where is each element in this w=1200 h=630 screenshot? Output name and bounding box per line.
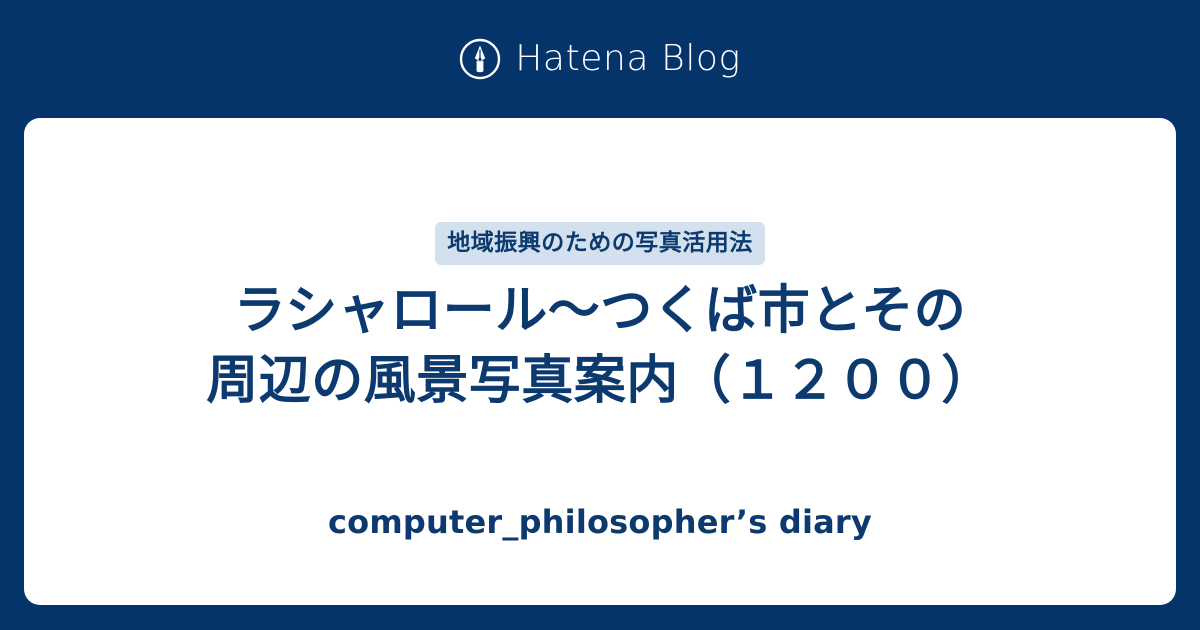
entry-title: ラシャロール〜つくば市とその 周辺の風景写真案内（１２００） [84,276,1116,416]
entry-title-line-2: 周辺の風景写真案内（１２００） [84,346,1116,416]
entry-card: 地域振興のための写真活用法 ラシャロール〜つくば市とその 周辺の風景写真案内（１… [24,118,1176,605]
blog-name[interactable]: computer_philosopher’s diary [24,503,1176,541]
category-row: 地域振興のための写真活用法 [24,222,1176,265]
brand-name-label: Hatena Blog [515,41,741,77]
hatena-blog-brand[interactable]: Hatena Blog [0,0,1200,118]
entry-title-line-1: ラシャロール〜つくば市とその [84,276,1116,346]
fountain-pen-nib-circle-icon [459,38,501,80]
ogp-card: Hatena Blog 地域振興のための写真活用法 ラシャロール〜つくば市とその… [0,0,1200,630]
category-tag[interactable]: 地域振興のための写真活用法 [435,222,765,265]
